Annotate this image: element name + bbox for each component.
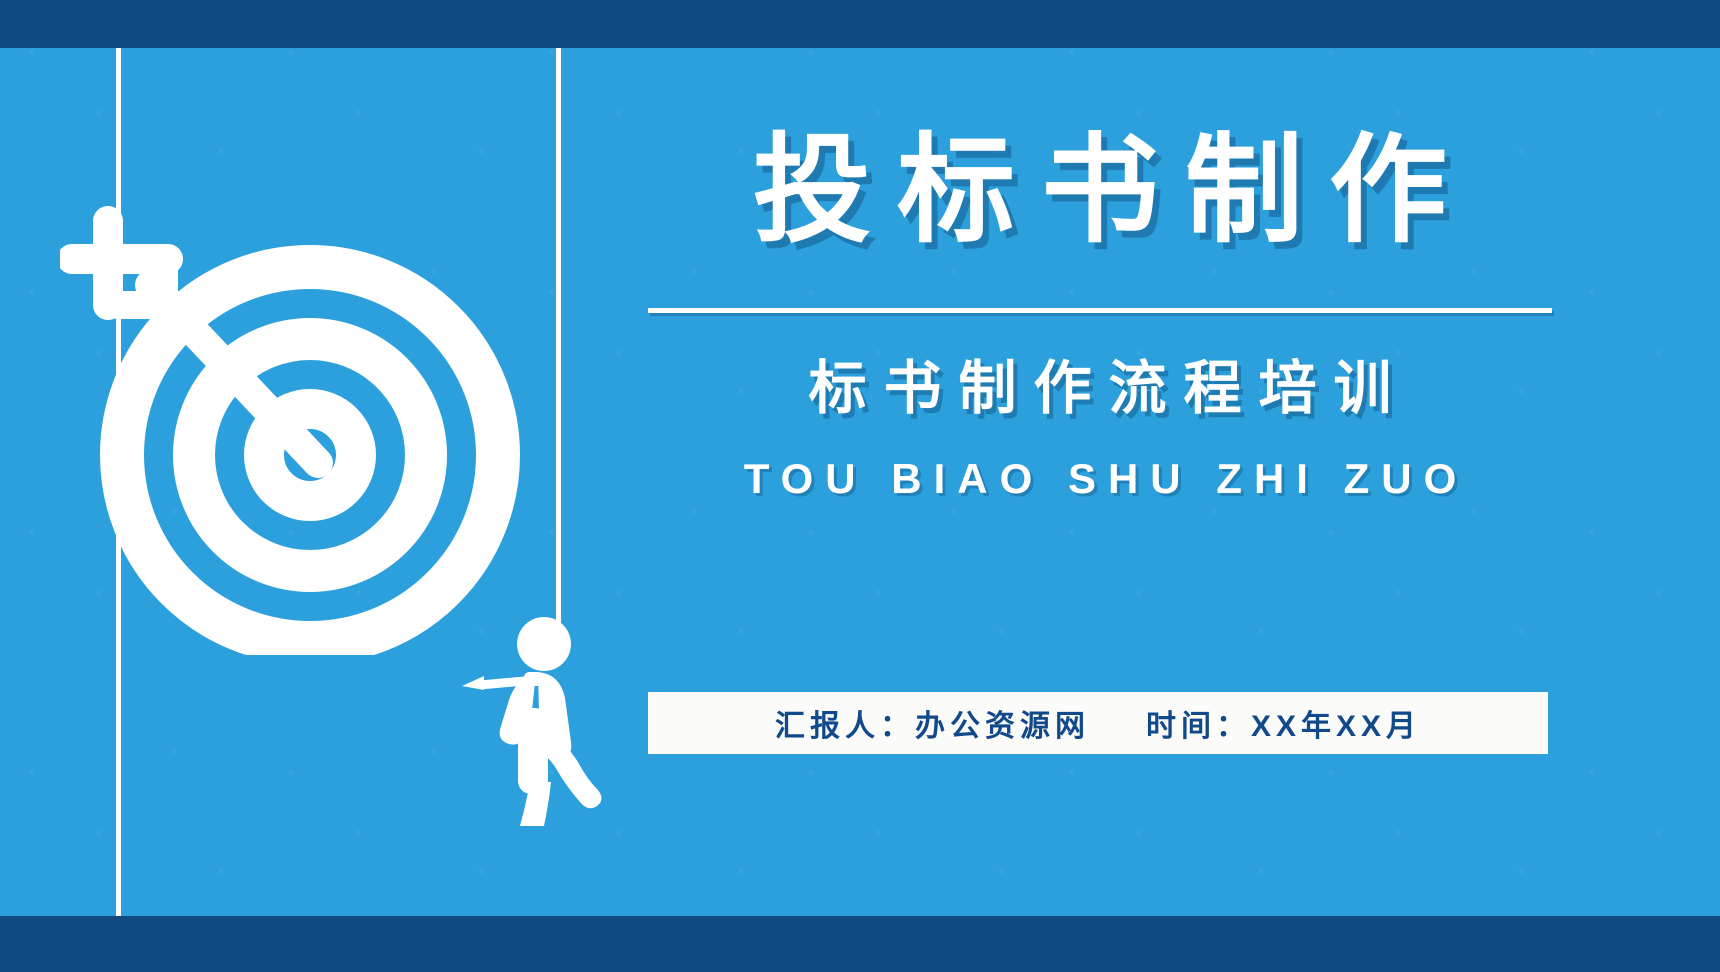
bottom-navy-band xyxy=(0,916,1720,972)
center-vertical-guide-line xyxy=(556,48,561,638)
dartboard-target-icon xyxy=(60,175,530,655)
title-text-block: 投标书制作 标书制作流程培训 TOU BIAO SHU ZHI ZUO xyxy=(630,120,1570,503)
presenter-info-bar: 汇报人：办公资源网 时间：XX年XX月 xyxy=(648,692,1548,754)
pinyin-romanization: TOU BIAO SHU ZHI ZUO xyxy=(630,455,1570,503)
date-label: 时间：XX年XX月 xyxy=(1146,701,1421,745)
top-navy-band xyxy=(0,0,1720,48)
presenter-label: 汇报人：办公资源网 xyxy=(775,701,1090,745)
page-title: 投标书制作 xyxy=(630,120,1570,264)
dart-thrower-figure-icon xyxy=(452,612,602,827)
title-divider xyxy=(648,308,1552,313)
title-slide: 投标书制作 标书制作流程培训 TOU BIAO SHU ZHI ZUO 汇报人：… xyxy=(0,0,1720,972)
page-subtitle: 标书制作流程培训 xyxy=(630,353,1570,426)
